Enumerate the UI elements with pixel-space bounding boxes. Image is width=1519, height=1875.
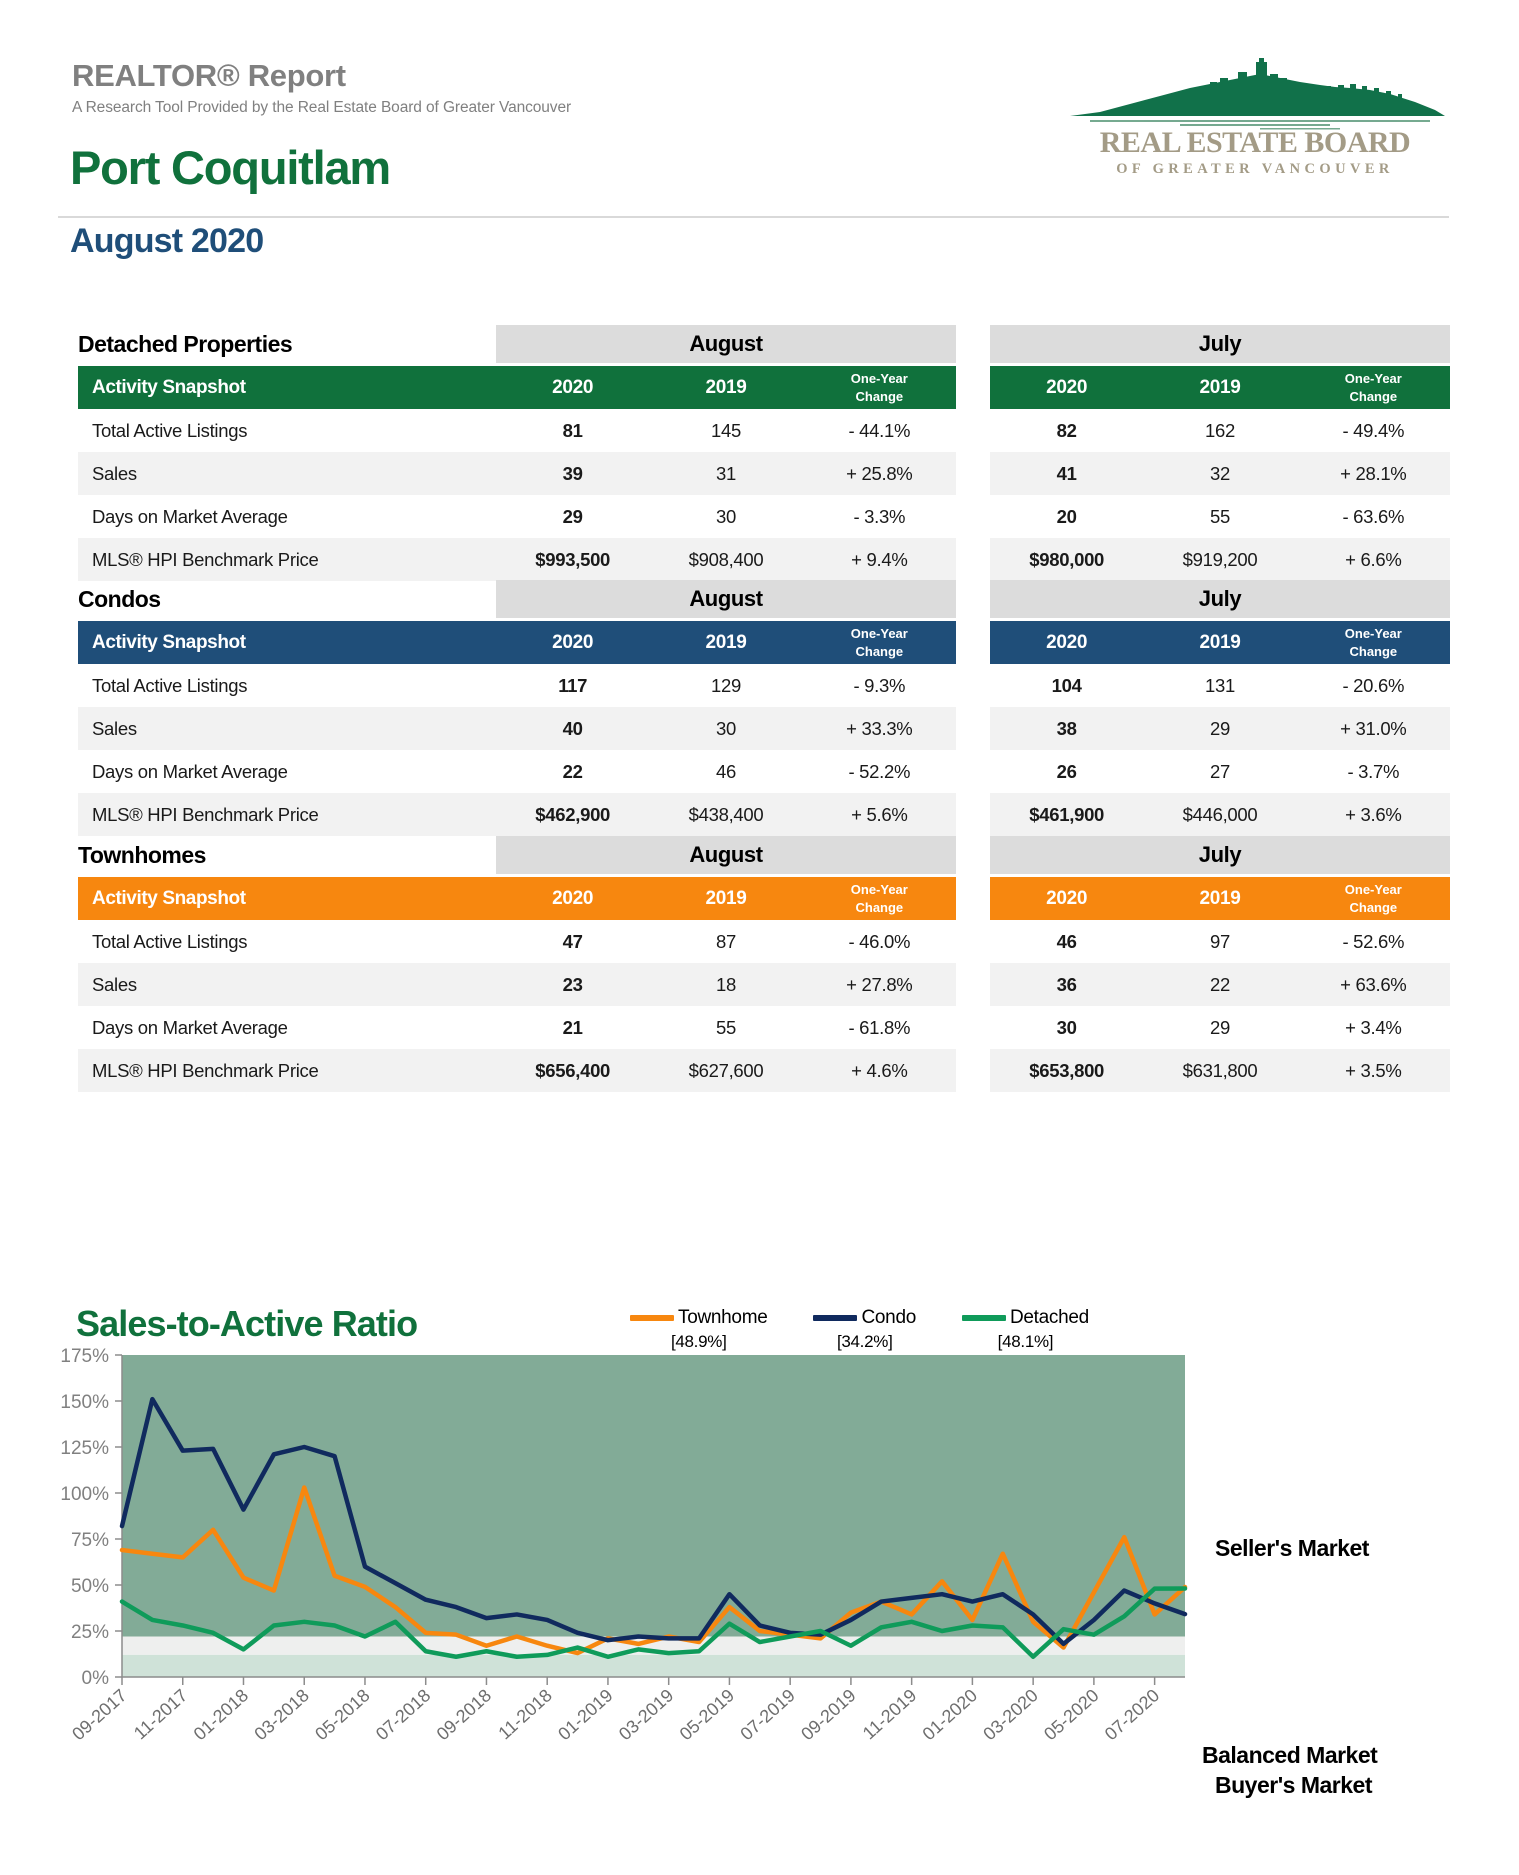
cell-change: - 20.6%	[1297, 664, 1450, 707]
cell-2020: 20	[990, 495, 1143, 538]
x-axis-tick-label: 07-2020	[1101, 1685, 1163, 1744]
cell-2020: 22	[496, 750, 649, 793]
header-group-august: 2020 2019 One-Year Change	[496, 366, 956, 409]
chart-legend: Townhome [48.9%] Condo [34.2%] Detached …	[630, 1307, 1089, 1352]
cell-2019: 55	[649, 1006, 802, 1049]
category-title-detached: Detached Properties	[78, 325, 496, 363]
cell-2019: 131	[1143, 664, 1296, 707]
header-group-july: 2020 2019 One-Year Change	[990, 621, 1450, 664]
y-axis-tick-label: 75%	[71, 1530, 109, 1551]
table-row: MLS® HPI Benchmark Price $462,900 $438,4…	[78, 793, 1450, 836]
cell-change: + 4.6%	[803, 1049, 956, 1092]
row-group-august: $462,900 $438,400 + 5.6%	[496, 793, 956, 836]
row-group-july: 104 131 - 20.6%	[990, 664, 1450, 707]
table-detached-properties: Detached Properties August July Activity…	[78, 325, 1450, 581]
cell-2020: 41	[990, 452, 1143, 495]
legend-item-townhome: Townhome [48.9%]	[630, 1307, 767, 1352]
logo-wordmark: REAL ESTATE BOARD	[1060, 126, 1450, 160]
table-townhomes: Townhomes August July Activity Snapshot …	[78, 836, 1450, 1092]
row-group-july: 20 55 - 63.6%	[990, 495, 1450, 538]
cell-change: + 3.6%	[1297, 793, 1450, 836]
x-axis-tick-label: 09-2018	[433, 1685, 495, 1744]
table-header-detached: Activity Snapshot 2020 2019 One-Year Cha…	[78, 366, 1450, 409]
table-row: Days on Market Average 29 30 - 3.3% 20 5…	[78, 495, 1450, 538]
x-axis-tick-label: 11-2019	[859, 1685, 920, 1743]
header-aug-2019: 2019	[649, 877, 802, 920]
cell-change: - 49.4%	[1297, 409, 1450, 452]
cell-2020: 104	[990, 664, 1143, 707]
row-label: Days on Market Average	[78, 750, 496, 793]
x-axis-tick-label: 11-2017	[130, 1685, 191, 1743]
band-seller-market	[122, 1355, 1185, 1637]
x-axis-tick-label: 01-2019	[554, 1685, 616, 1744]
report-period: August 2020	[70, 222, 263, 261]
cell-change: - 63.6%	[1297, 495, 1450, 538]
y-axis-tick-label: 150%	[60, 1392, 109, 1413]
cell-change: - 52.6%	[1297, 920, 1450, 963]
report-header: REALTOR® Report A Research Tool Provided…	[72, 58, 571, 117]
header-aug-change: One-Year Change	[803, 877, 956, 920]
row-group-july: $461,900 $446,000 + 3.6%	[990, 793, 1450, 836]
header-activity-snapshot: Activity Snapshot	[78, 621, 496, 664]
table-header-condos: Activity Snapshot 2020 2019 One-Year Cha…	[78, 621, 1450, 664]
cell-2019: 29	[1143, 707, 1296, 750]
category-title-townhomes: Townhomes	[78, 836, 496, 874]
cell-2019: 22	[1143, 963, 1296, 1006]
cell-2020: 36	[990, 963, 1143, 1006]
cell-2019: $627,600	[649, 1049, 802, 1092]
reb-logo: REAL ESTATE BOARD OF GREATER VANCOUVER	[1060, 58, 1450, 178]
table-header-townhomes: Activity Snapshot 2020 2019 One-Year Cha…	[78, 877, 1450, 920]
header-group-july: 2020 2019 One-Year Change	[990, 366, 1450, 409]
cell-change: - 9.3%	[803, 664, 956, 707]
month-band-august: August	[496, 580, 956, 618]
cell-2019: 29	[1143, 1006, 1296, 1049]
cell-change: + 27.8%	[803, 963, 956, 1006]
cell-change: - 3.3%	[803, 495, 956, 538]
header-aug-2020: 2020	[496, 621, 649, 664]
cell-2020: $993,500	[496, 538, 649, 581]
x-axis-tick-label: 01-2018	[190, 1685, 252, 1744]
row-group-july: 46 97 - 52.6%	[990, 920, 1450, 963]
header-jul-change: One-Year Change	[1297, 621, 1450, 664]
cell-2019: $438,400	[649, 793, 802, 836]
table-row: Total Active Listings 81 145 - 44.1% 82 …	[78, 409, 1450, 452]
cell-2019: 97	[1143, 920, 1296, 963]
row-group-august: 40 30 + 33.3%	[496, 707, 956, 750]
month-band-august: August	[496, 836, 956, 874]
cell-change: - 44.1%	[803, 409, 956, 452]
month-band-july: July	[990, 325, 1450, 363]
table-row: MLS® HPI Benchmark Price $656,400 $627,6…	[78, 1049, 1450, 1092]
legend-label-townhome: Townhome	[678, 1307, 767, 1329]
header-jul-2019: 2019	[1143, 621, 1296, 664]
cell-2019: 32	[1143, 452, 1296, 495]
cell-2019: 18	[649, 963, 802, 1006]
cell-change: - 3.7%	[1297, 750, 1450, 793]
cell-change: + 3.5%	[1297, 1049, 1450, 1092]
header-jul-change: One-Year Change	[1297, 366, 1450, 409]
row-label: MLS® HPI Benchmark Price	[78, 793, 496, 836]
table-row: Days on Market Average 21 55 - 61.8% 30 …	[78, 1006, 1450, 1049]
cell-2019: 27	[1143, 750, 1296, 793]
row-group-july: $980,000 $919,200 + 6.6%	[990, 538, 1450, 581]
table-row: Sales 23 18 + 27.8% 36 22 + 63.6%	[78, 963, 1450, 1006]
row-group-august: $993,500 $908,400 + 9.4%	[496, 538, 956, 581]
table-condos: Condos August July Activity Snapshot 202…	[78, 580, 1450, 836]
cell-2020: 21	[496, 1006, 649, 1049]
row-label: Total Active Listings	[78, 920, 496, 963]
cell-change: + 63.6%	[1297, 963, 1450, 1006]
cell-2020: 117	[496, 664, 649, 707]
legend-swatch-townhome	[630, 1315, 674, 1321]
x-axis-tick-label: 05-2019	[676, 1685, 738, 1744]
legend-item-detached: Detached [48.1%]	[962, 1307, 1089, 1352]
market-label-buyer: Buyer's Market	[1215, 1772, 1372, 1799]
row-group-july: $653,800 $631,800 + 3.5%	[990, 1049, 1450, 1092]
x-axis-tick-label: 01-2020	[919, 1685, 981, 1744]
cell-change: - 46.0%	[803, 920, 956, 963]
cell-2020: 23	[496, 963, 649, 1006]
cell-2019: 30	[649, 707, 802, 750]
report-title: REALTOR® Report	[72, 58, 571, 94]
cell-2020: 26	[990, 750, 1143, 793]
header-group-august: 2020 2019 One-Year Change	[496, 877, 956, 920]
cell-2020: $980,000	[990, 538, 1143, 581]
market-label-balanced: Balanced Market	[1202, 1742, 1377, 1769]
cell-2020: 40	[496, 707, 649, 750]
month-band-august: August	[496, 325, 956, 363]
row-group-july: 82 162 - 49.4%	[990, 409, 1450, 452]
cell-2020: $656,400	[496, 1049, 649, 1092]
header-jul-2019: 2019	[1143, 877, 1296, 920]
cell-change: + 28.1%	[1297, 452, 1450, 495]
row-group-august: 81 145 - 44.1%	[496, 409, 956, 452]
cell-2020: $653,800	[990, 1049, 1143, 1092]
y-axis-tick-label: 50%	[71, 1576, 109, 1597]
row-group-july: 38 29 + 31.0%	[990, 707, 1450, 750]
row-group-august: 21 55 - 61.8%	[496, 1006, 956, 1049]
table-row: Days on Market Average 22 46 - 52.2% 26 …	[78, 750, 1450, 793]
legend-label-condo: Condo	[861, 1307, 916, 1329]
header-aug-2020: 2020	[496, 877, 649, 920]
cell-change: + 31.0%	[1297, 707, 1450, 750]
cell-2020: 47	[496, 920, 649, 963]
row-group-august: $656,400 $627,600 + 4.6%	[496, 1049, 956, 1092]
table-row: Total Active Listings 117 129 - 9.3% 104…	[78, 664, 1450, 707]
category-title-condos: Condos	[78, 580, 496, 618]
x-axis-tick-label: 07-2019	[736, 1685, 798, 1744]
cell-2019: 145	[649, 409, 802, 452]
row-group-august: 47 87 - 46.0%	[496, 920, 956, 963]
cell-2019: 46	[649, 750, 802, 793]
table-row: MLS® HPI Benchmark Price $993,500 $908,4…	[78, 538, 1450, 581]
cell-2020: 81	[496, 409, 649, 452]
header-aug-change: One-Year Change	[803, 621, 956, 664]
cell-2020: 30	[990, 1006, 1143, 1049]
row-label: Days on Market Average	[78, 1006, 496, 1049]
y-axis-tick-label: 25%	[71, 1622, 109, 1643]
header-jul-change: One-Year Change	[1297, 877, 1450, 920]
chart-title: Sales-to-Active Ratio	[76, 1303, 417, 1345]
header-jul-2020: 2020	[990, 366, 1143, 409]
cell-2019: 55	[1143, 495, 1296, 538]
row-group-july: 30 29 + 3.4%	[990, 1006, 1450, 1049]
legend-item-condo: Condo [34.2%]	[813, 1307, 916, 1352]
row-label: MLS® HPI Benchmark Price	[78, 538, 496, 581]
month-band-july: July	[990, 580, 1450, 618]
row-label: Sales	[78, 452, 496, 495]
x-axis-tick-label: 07-2018	[372, 1685, 434, 1744]
table-row: Sales 40 30 + 33.3% 38 29 + 31.0%	[78, 707, 1450, 750]
cell-2019: 162	[1143, 409, 1296, 452]
x-axis-tick-label: 05-2018	[311, 1685, 373, 1744]
row-group-august: 23 18 + 27.8%	[496, 963, 956, 1006]
row-group-august: 117 129 - 9.3%	[496, 664, 956, 707]
header-group-august: 2020 2019 One-Year Change	[496, 621, 956, 664]
cell-change: + 9.4%	[803, 538, 956, 581]
header-activity-snapshot: Activity Snapshot	[78, 366, 496, 409]
y-axis-tick-label: 100%	[60, 1484, 109, 1505]
cell-2019: $631,800	[1143, 1049, 1296, 1092]
header-aug-change: One-Year Change	[803, 366, 956, 409]
cell-2019: $446,000	[1143, 793, 1296, 836]
cell-2019: 30	[649, 495, 802, 538]
table-band-row: Townhomes August July	[78, 836, 1450, 874]
y-axis-tick-label: 175%	[60, 1347, 109, 1367]
logo-submark: OF GREATER VANCOUVER	[1060, 161, 1450, 178]
row-group-july: 36 22 + 63.6%	[990, 963, 1450, 1006]
header-aug-2019: 2019	[649, 621, 802, 664]
row-group-august: 39 31 + 25.8%	[496, 452, 956, 495]
band-buyer-market	[122, 1655, 1185, 1677]
header-group-july: 2020 2019 One-Year Change	[990, 877, 1450, 920]
cell-2020: 38	[990, 707, 1143, 750]
page-title-city: Port Coquitlam	[70, 140, 390, 195]
row-group-july: 41 32 + 28.1%	[990, 452, 1450, 495]
cell-2020: 39	[496, 452, 649, 495]
header-aug-2020: 2020	[496, 366, 649, 409]
y-axis-tick-label: 0%	[82, 1668, 110, 1689]
header-activity-snapshot: Activity Snapshot	[78, 877, 496, 920]
y-axis-tick-label: 125%	[60, 1438, 109, 1459]
x-axis-tick-label: 03-2019	[615, 1685, 677, 1744]
cell-change: + 6.6%	[1297, 538, 1450, 581]
header-jul-2020: 2020	[990, 877, 1143, 920]
cell-2019: $919,200	[1143, 538, 1296, 581]
cell-2020: $461,900	[990, 793, 1143, 836]
cell-2019: 87	[649, 920, 802, 963]
x-axis-tick-label: 03-2020	[979, 1685, 1041, 1744]
cell-change: - 61.8%	[803, 1006, 956, 1049]
legend-swatch-detached	[962, 1315, 1006, 1321]
cell-change: + 33.3%	[803, 707, 956, 750]
cell-change: + 3.4%	[1297, 1006, 1450, 1049]
row-label: Sales	[78, 707, 496, 750]
cell-2020: 29	[496, 495, 649, 538]
x-axis-tick-label: 03-2018	[250, 1685, 312, 1744]
cell-change: - 52.2%	[803, 750, 956, 793]
row-label: Total Active Listings	[78, 664, 496, 707]
legend-swatch-condo	[813, 1315, 857, 1321]
header-jul-2019: 2019	[1143, 366, 1296, 409]
table-row: Sales 39 31 + 25.8% 41 32 + 28.1%	[78, 452, 1450, 495]
market-label-seller: Seller's Market	[1215, 1535, 1369, 1562]
cell-2020: $462,900	[496, 793, 649, 836]
month-band-july: July	[990, 836, 1450, 874]
x-axis-tick-label: 11-2018	[494, 1685, 555, 1743]
vancouver-skyline-icon	[1060, 58, 1450, 130]
report-subtitle: A Research Tool Provided by the Real Est…	[72, 99, 571, 117]
cell-2019: 31	[649, 452, 802, 495]
row-label: Days on Market Average	[78, 495, 496, 538]
row-label: MLS® HPI Benchmark Price	[78, 1049, 496, 1092]
cell-2020: 46	[990, 920, 1143, 963]
row-label: Sales	[78, 963, 496, 1006]
legend-label-detached: Detached	[1010, 1307, 1089, 1329]
cell-change: + 5.6%	[803, 793, 956, 836]
cell-2019: 129	[649, 664, 802, 707]
row-group-august: 22 46 - 52.2%	[496, 750, 956, 793]
row-group-july: 26 27 - 3.7%	[990, 750, 1450, 793]
header-aug-2019: 2019	[649, 366, 802, 409]
realtor-report-page: REALTOR® Report A Research Tool Provided…	[0, 0, 1519, 1875]
x-axis-tick-label: 09-2017	[68, 1685, 130, 1744]
table-band-row: Condos August July	[78, 580, 1450, 618]
row-group-august: 29 30 - 3.3%	[496, 495, 956, 538]
cell-2019: $908,400	[649, 538, 802, 581]
header-divider	[58, 216, 1449, 218]
table-band-row: Detached Properties August July	[78, 325, 1450, 363]
cell-2020: 82	[990, 409, 1143, 452]
x-axis-tick-label: 05-2020	[1040, 1685, 1102, 1744]
cell-change: + 25.8%	[803, 452, 956, 495]
header-jul-2020: 2020	[990, 621, 1143, 664]
row-label: Total Active Listings	[78, 409, 496, 452]
x-axis-tick-label: 09-2019	[797, 1685, 859, 1744]
table-row: Total Active Listings 47 87 - 46.0% 46 9…	[78, 920, 1450, 963]
